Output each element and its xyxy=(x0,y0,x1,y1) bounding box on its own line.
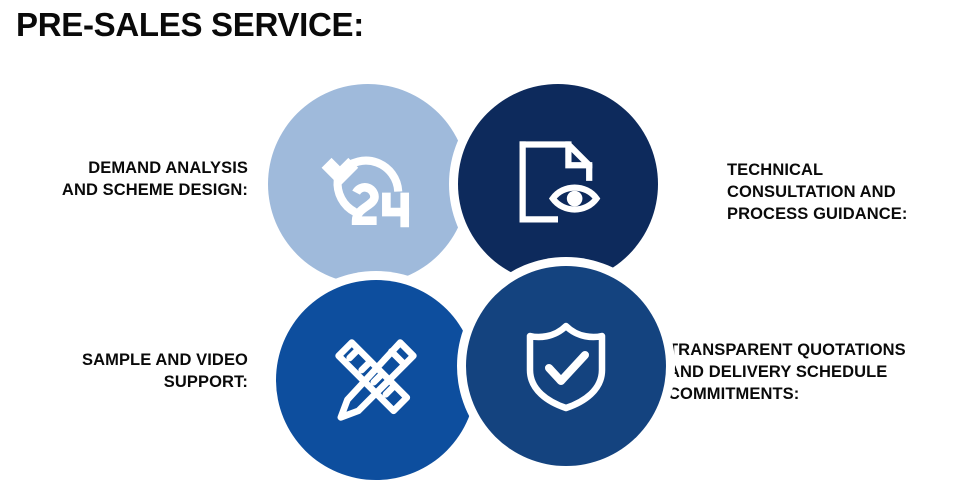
label-line: COMMITMENTS: xyxy=(668,384,960,406)
document-eye-icon xyxy=(506,132,610,236)
24-hour-rotate-icon xyxy=(314,130,422,238)
label-technical-consultation: TECHNICAL CONSULTATION AND PROCESS GUIDA… xyxy=(727,160,957,226)
label-line: CONSULTATION AND xyxy=(727,182,957,204)
label-line: TRANSPARENT QUOTATIONS xyxy=(668,340,960,362)
label-line: PROCESS GUIDANCE: xyxy=(727,204,957,226)
circle-transparent-quotations[interactable] xyxy=(466,266,666,466)
label-line: DEMAND ANALYSIS xyxy=(0,158,248,180)
label-transparent-quotations: TRANSPARENT QUOTATIONS AND DELIVERY SCHE… xyxy=(668,340,960,406)
pencil-ruler-icon xyxy=(321,325,431,435)
service-circle-cluster xyxy=(268,84,666,484)
label-sample-video-support: SAMPLE AND VIDEO SUPPORT: xyxy=(0,350,248,394)
label-line: TECHNICAL xyxy=(727,160,957,182)
shield-check-icon xyxy=(516,316,616,416)
circle-demand-analysis[interactable] xyxy=(268,84,468,284)
page-title: PRE-SALES SERVICE: xyxy=(16,6,364,44)
label-line: SAMPLE AND VIDEO xyxy=(0,350,248,372)
circle-sample-video-support[interactable] xyxy=(276,280,476,480)
label-line: AND DELIVERY SCHEDULE xyxy=(668,362,960,384)
label-line: AND SCHEME DESIGN: xyxy=(0,180,248,202)
circle-technical-consultation[interactable] xyxy=(458,84,658,284)
label-demand-analysis: DEMAND ANALYSIS AND SCHEME DESIGN: xyxy=(0,158,248,202)
label-line: SUPPORT: xyxy=(0,372,248,394)
